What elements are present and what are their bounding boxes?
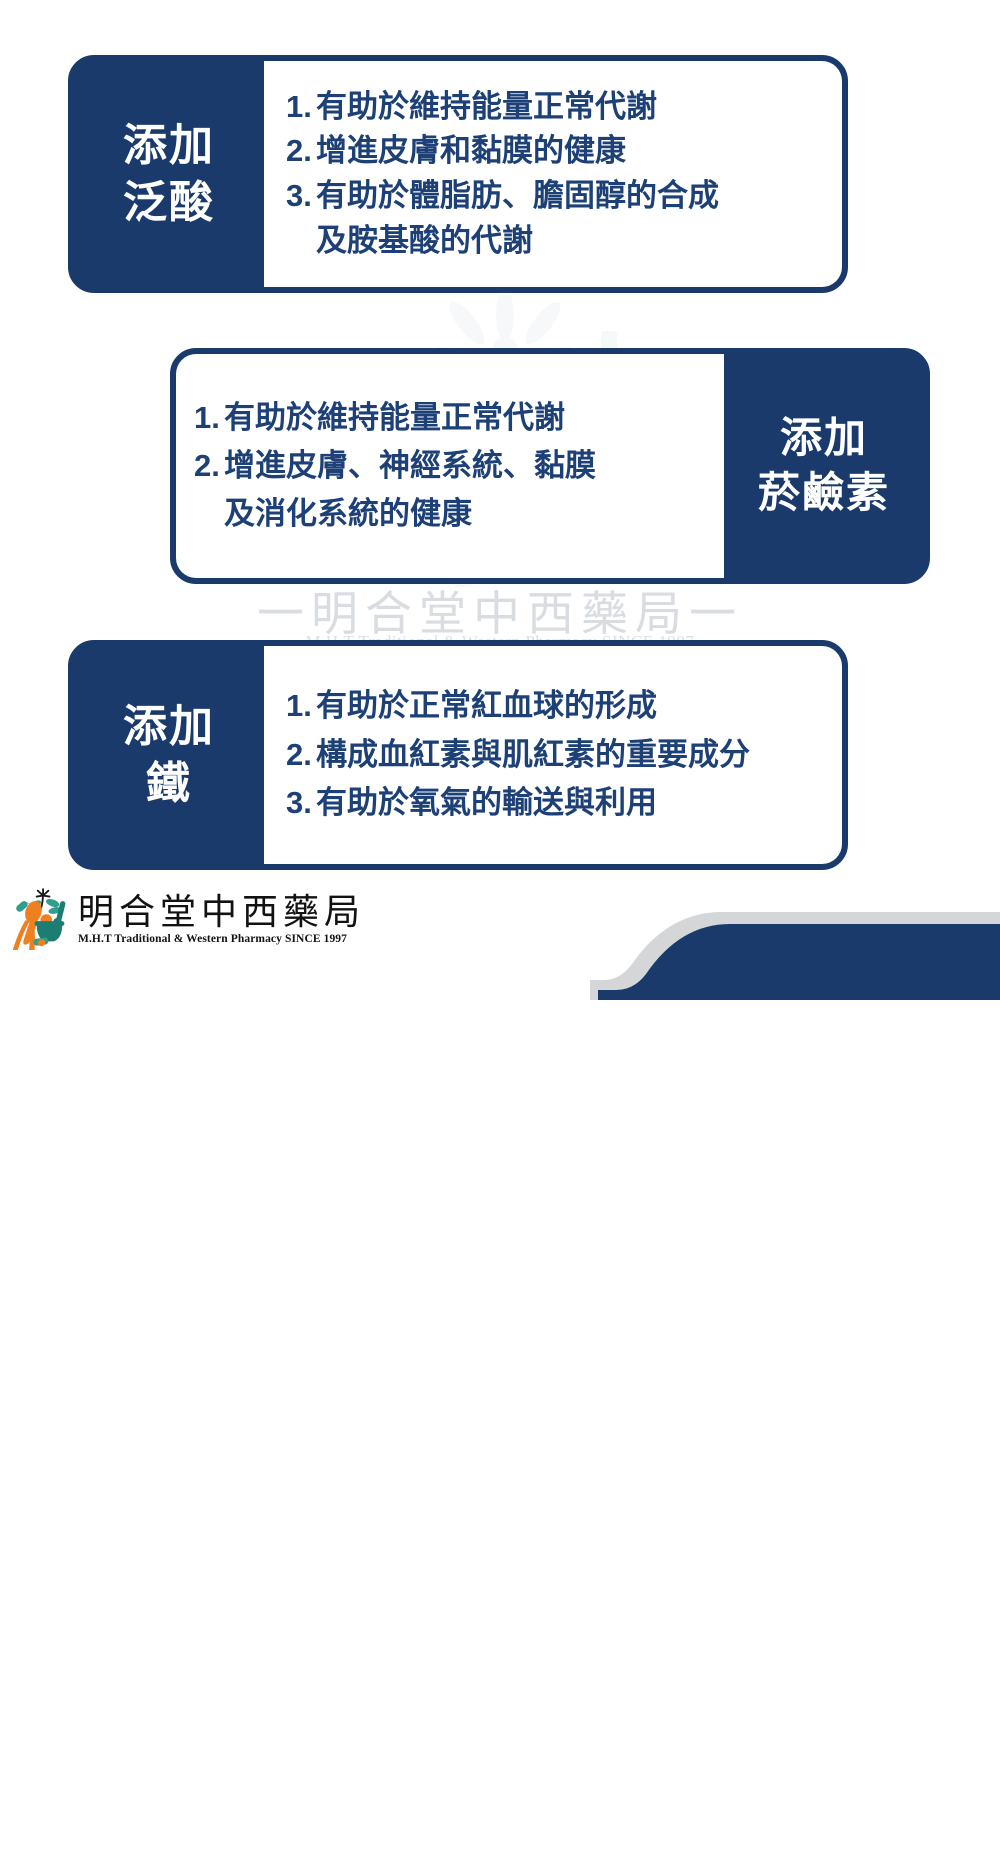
list-item: 1. 有助於正常紅血球的形成	[286, 682, 832, 730]
benefit-card-iron: 添加 鐵 1. 有助於正常紅血球的形成 2. 構成血紅素與肌紅素的重要成分 3.…	[68, 640, 848, 870]
list-item-text: 有助於氧氣的輸送與利用	[316, 779, 832, 827]
benefit-list: 1. 有助於正常紅血球的形成 2. 構成血紅素與肌紅素的重要成分 3. 有助於氧…	[286, 682, 832, 827]
list-item-number: 1.	[286, 682, 316, 730]
card-body-iron: 1. 有助於正常紅血球的形成 2. 構成血紅素與肌紅素的重要成分 3. 有助於氧…	[264, 646, 842, 864]
list-item-text: 增進皮膚、神經系統、黏膜	[224, 442, 714, 490]
list-item-number: 3.	[286, 779, 316, 827]
list-item-text: 構成血紅素與肌紅素的重要成分	[316, 731, 832, 779]
card-label-line2: 鐵	[146, 755, 192, 812]
card-label-pantothenic-acid: 添加 泛酸	[74, 61, 264, 287]
logo-title: 明合堂中西藥局	[78, 893, 365, 932]
list-item-text: 有助於維持能量正常代謝	[224, 394, 714, 442]
list-item: 1. 有助於維持能量正常代謝	[194, 394, 714, 442]
list-item-text: 有助於維持能量正常代謝	[316, 85, 832, 130]
list-item-continuation: 2. 及消化系統的健康	[194, 490, 714, 538]
list-item-text: 增進皮膚和黏膜的健康	[316, 129, 832, 174]
card-label-niacin: 添加 菸鹼素	[724, 354, 924, 578]
list-item-number: 1.	[194, 394, 224, 442]
list-item: 1. 有助於維持能量正常代謝	[286, 85, 832, 130]
card-label-line1: 添加	[123, 698, 215, 755]
banner-label: 藥師直營	[648, 1810, 876, 1875]
list-item: 3. 有助於體脂肪、膽固醇的合成	[286, 174, 832, 219]
list-item-number: 3.	[286, 174, 316, 219]
logo-subtitle: M.H.T Traditional & Western Pharmacy SIN…	[78, 933, 365, 945]
list-item-number: 2.	[286, 731, 316, 779]
list-item-number: 2.	[286, 129, 316, 174]
card-body-pantothenic-acid: 1. 有助於維持能量正常代謝 2. 增進皮膚和黏膜的健康 3. 有助於體脂肪、膽…	[264, 61, 842, 287]
list-item-text: 有助於正常紅血球的形成	[316, 682, 832, 730]
benefit-card-pantothenic-acid: 添加 泛酸 1. 有助於維持能量正常代謝 2. 增進皮膚和黏膜的健康 3. 有助…	[68, 55, 848, 293]
list-item: 2. 構成血紅素與肌紅素的重要成分	[286, 731, 832, 779]
list-item-text: 及胺基酸的代謝	[316, 219, 832, 264]
list-item-number: 1.	[286, 85, 316, 130]
list-item: 2. 增進皮膚、神經系統、黏膜	[194, 442, 714, 490]
list-item-text: 及消化系統的健康	[224, 490, 714, 538]
card-label-line2: 泛酸	[123, 174, 215, 231]
logo-text-block: 明合堂中西藥局 M.H.T Traditional & Western Phar…	[78, 893, 365, 946]
pharmacy-logo: 明合堂中西藥局 M.H.T Traditional & Western Phar…	[10, 888, 365, 950]
footer: 明合堂中西藥局 M.H.T Traditional & Western Phar…	[0, 880, 1000, 1000]
card-label-line1: 添加	[123, 117, 215, 174]
list-item-continuation: 3. 及胺基酸的代謝	[286, 219, 832, 264]
watermark-title: 一明合堂中西藥局一	[0, 575, 1000, 644]
pharmacist-banner	[590, 902, 1000, 1000]
list-item: 3. 有助於氧氣的輸送與利用	[286, 779, 832, 827]
list-item-number: 2.	[194, 442, 224, 490]
benefit-list: 1. 有助於維持能量正常代謝 2. 增進皮膚、神經系統、黏膜 2. 及消化系統的…	[194, 394, 714, 537]
list-item-text: 有助於體脂肪、膽固醇的合成	[316, 174, 832, 219]
card-label-line2: 菸鹼素	[758, 466, 890, 521]
benefit-list: 1. 有助於維持能量正常代謝 2. 增進皮膚和黏膜的健康 3. 有助於體脂肪、膽…	[286, 85, 832, 264]
list-item: 2. 增進皮膚和黏膜的健康	[286, 129, 832, 174]
card-label-iron: 添加 鐵	[74, 646, 264, 864]
card-body-niacin: 1. 有助於維持能量正常代謝 2. 增進皮膚、神經系統、黏膜 2. 及消化系統的…	[176, 354, 724, 578]
card-label-line1: 添加	[780, 411, 868, 466]
banner-shape	[590, 902, 1000, 1000]
pharmacy-logo-icon	[10, 888, 74, 950]
benefit-card-niacin: 1. 有助於維持能量正常代謝 2. 增進皮膚、神經系統、黏膜 2. 及消化系統的…	[170, 348, 930, 584]
